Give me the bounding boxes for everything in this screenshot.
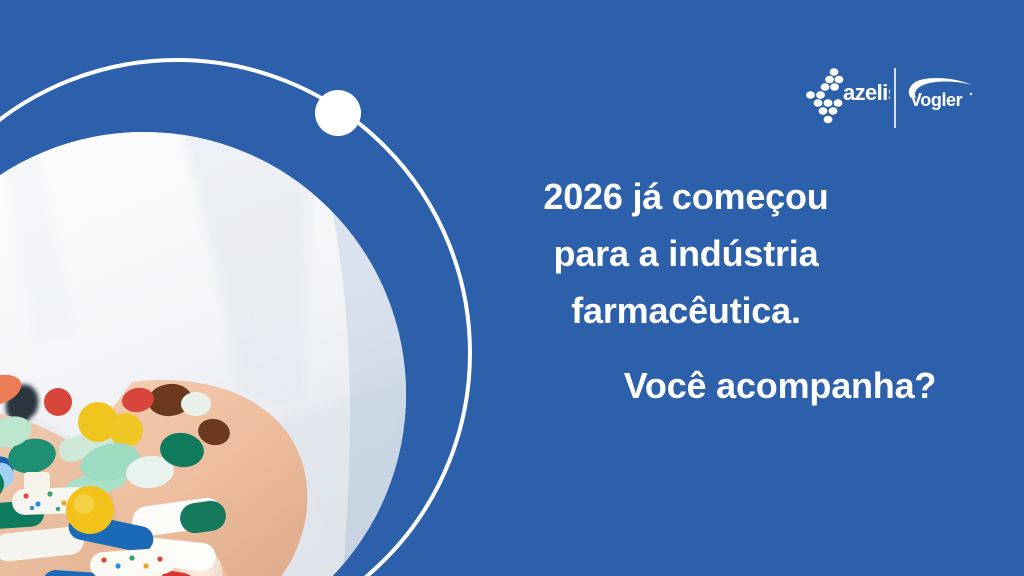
azelis-wordmark: azelis — [843, 80, 890, 105]
headline-line-1: 2026 já começou — [470, 168, 902, 225]
slide-canvas: azelis Vogler 2026 já começou para a ind… — [0, 0, 1024, 576]
decorative-dot-icon — [315, 90, 361, 136]
azelis-logo: azelis — [806, 66, 890, 126]
vogler-wordmark: Vogler — [910, 90, 963, 110]
hero-photo-circle — [0, 132, 406, 576]
brand-divider — [894, 68, 896, 128]
azelis-dot-diamond-icon — [806, 68, 843, 123]
headline-line-2: para a indústria — [470, 225, 902, 282]
subheadline: Você acompanha? — [566, 360, 994, 412]
headline-line-3: farmacêutica. — [470, 282, 902, 339]
registered-mark-icon — [970, 93, 972, 95]
headline: 2026 já começou para a indústria farmacê… — [470, 168, 902, 339]
pills-in-hands-photo — [0, 132, 406, 576]
vogler-logo: Vogler — [904, 76, 978, 116]
brand-lockup: azelis Vogler — [806, 64, 976, 130]
